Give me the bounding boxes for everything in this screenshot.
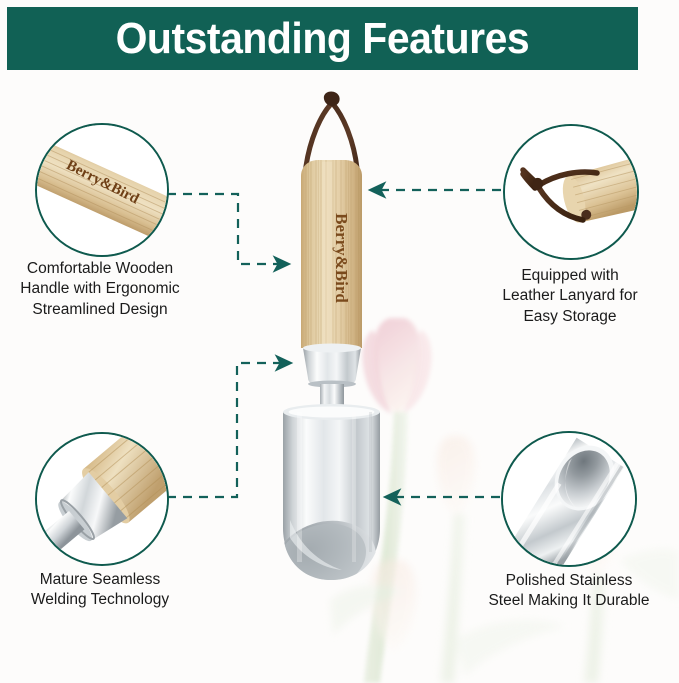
caption-line: Mature Seamless bbox=[4, 570, 196, 590]
infographic-canvas: Outstanding Features bbox=[0, 0, 679, 683]
caption-wooden-handle: Comfortable Wooden Handle with Ergonomic… bbox=[2, 259, 198, 320]
caption-stainless-steel: Polished Stainless Steel Making It Durab… bbox=[464, 571, 674, 612]
caption-line: Polished Stainless bbox=[464, 571, 674, 591]
caption-line: Handle with Ergonomic bbox=[2, 279, 198, 299]
caption-leather-lanyard: Equipped with Leather Lanyard for Easy S… bbox=[470, 266, 670, 327]
caption-line: Streamlined Design bbox=[2, 300, 198, 320]
caption-line: Welding Technology bbox=[4, 590, 196, 610]
detail-ferrule-weld-joint bbox=[37, 434, 167, 564]
steel-cylinder bbox=[263, 404, 387, 616]
callout-circle-leather-lanyard bbox=[503, 124, 639, 260]
caption-line: Easy Storage bbox=[470, 307, 670, 327]
wooden-handle: Berry&Bird bbox=[301, 155, 362, 352]
caption-line: Leather Lanyard for bbox=[470, 286, 670, 306]
caption-welding: Mature Seamless Welding Technology bbox=[4, 570, 196, 611]
detail-lanyard-on-handle-end bbox=[505, 126, 637, 258]
callout-circle-wooden-handle: Berry&Bird bbox=[35, 123, 169, 257]
detail-polished-cylinder-mouth bbox=[503, 433, 635, 565]
brand-engraving-label: Berry&Bird bbox=[332, 213, 351, 303]
callout-circle-welding bbox=[35, 432, 169, 566]
caption-line: Equipped with bbox=[470, 266, 670, 286]
caption-line: Steel Making It Durable bbox=[464, 591, 674, 611]
detail-wood-handle-engraving: Berry&Bird bbox=[37, 125, 167, 255]
callout-circle-stainless-steel bbox=[501, 431, 637, 567]
caption-line: Comfortable Wooden bbox=[2, 259, 198, 279]
steel-ferrule bbox=[303, 344, 361, 388]
